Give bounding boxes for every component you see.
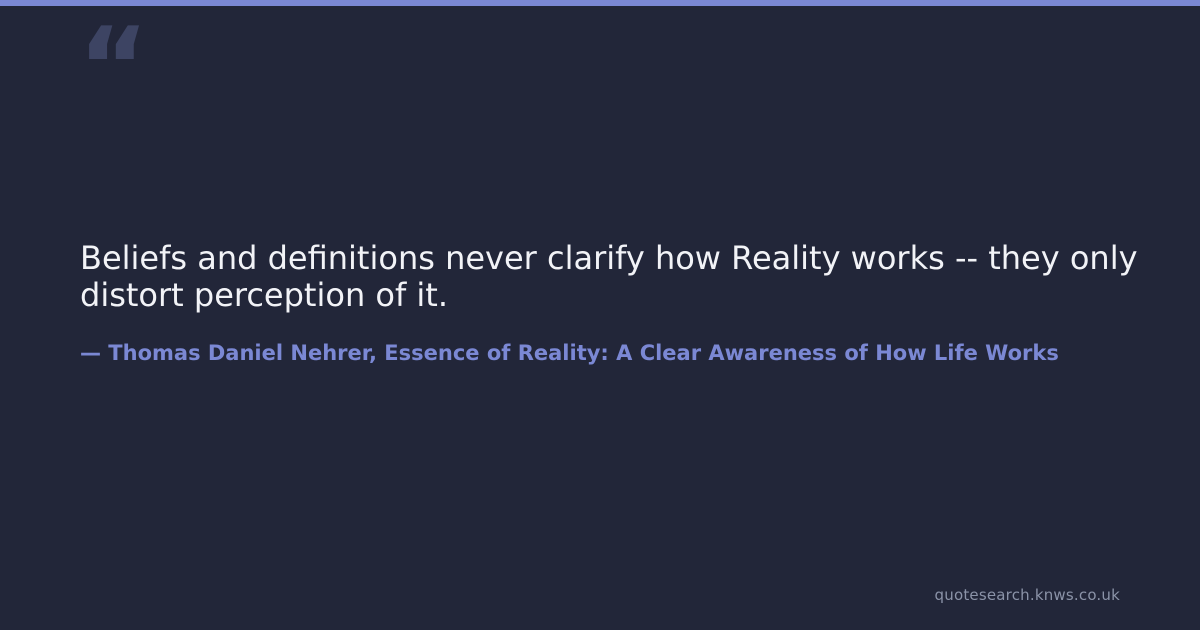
top-accent-bar bbox=[0, 0, 1200, 6]
quote-card: “ Beliefs and definitions never clarify … bbox=[0, 0, 1200, 630]
quote-text: Beliefs and definitions never clarify ho… bbox=[80, 240, 1200, 314]
quote-attribution: — Thomas Daniel Nehrer, Essence of Reali… bbox=[80, 340, 1200, 366]
open-quote-icon: “ bbox=[78, 14, 147, 122]
site-watermark: quotesearch.knws.co.uk bbox=[935, 586, 1120, 604]
quote-body: Beliefs and definitions never clarify ho… bbox=[80, 240, 1200, 314]
